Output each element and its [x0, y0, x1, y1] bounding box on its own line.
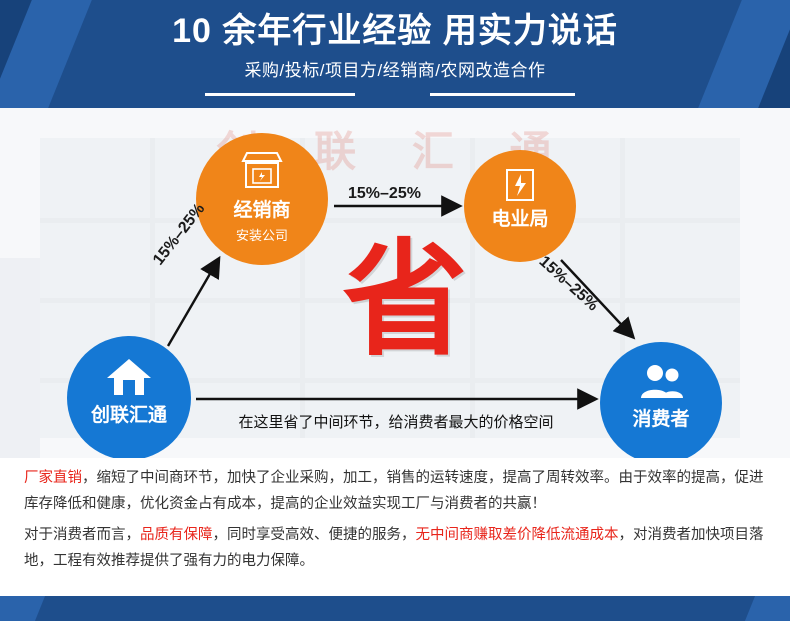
footer-diagonal-left [0, 596, 45, 621]
header-banner: 10 余年行业经验 用实力说话 采购/投标/项目方/经销商/农网改造合作 [0, 0, 790, 108]
paragraph-1-text: ，缩短了中间商环节，加快了企业采购，加工，销售的运转速度，提高了周转效率。由于效… [24, 470, 764, 512]
node-consumer[interactable]: 消费者 [600, 342, 722, 458]
footer-diagonal-right [745, 596, 790, 621]
paragraph-2: 对于消费者而言，品质有保障，同时享受高效、便捷的服务，无中间商赚取差价降低流通成… [24, 522, 768, 574]
flow-diagram: 创 联 汇 通 [0, 108, 790, 458]
paragraph-1: 厂家直销，缩短了中间商环节，加快了企业采购，加工，销售的运转速度，提高了周转效率… [24, 465, 768, 517]
node-power-bureau-label: 电业局 [464, 204, 576, 231]
banner-underline-right [430, 93, 575, 96]
diagram-bottom-caption: 在这里省了中间环节，给消费者最大的价格空间 [196, 411, 596, 432]
node-dealer-label: 经销商 [196, 195, 328, 222]
node-power-bureau[interactable]: 电业局 [464, 150, 576, 262]
paragraph-2-text-a: 对于消费者而言， [24, 527, 140, 543]
factory-home-icon [67, 356, 191, 398]
shop-icon [196, 151, 328, 191]
center-saving-character: 省 [330, 238, 480, 363]
banner-title: 10 余年行业经验 用实力说话 [0, 9, 790, 53]
node-dealer-sublabel: 安装公司 [196, 225, 328, 244]
building-bolt-icon [464, 166, 576, 202]
banner-underline-left [205, 93, 355, 96]
banner-subtitle: 采购/投标/项目方/经销商/农网改造合作 [0, 58, 790, 84]
node-consumer-label: 消费者 [600, 404, 722, 431]
people-icon [600, 362, 722, 402]
paragraph-1-highlight: 厂家直销 [24, 470, 82, 486]
arrow-maker-to-dealer [168, 260, 218, 346]
paragraph-2-highlight-1: 品质有保障 [140, 527, 213, 543]
paragraph-2-highlight-2: 无中间商赚取差价降低流通成本 [416, 527, 619, 543]
node-manufacturer[interactable]: 创联汇通 [67, 336, 191, 458]
footer-bar [0, 596, 790, 621]
page-root: 10 余年行业经验 用实力说话 采购/投标/项目方/经销商/农网改造合作 创 联… [0, 0, 790, 621]
percent-label-top: 15%–25% [348, 185, 421, 203]
node-manufacturer-label: 创联汇通 [67, 400, 191, 427]
node-dealer[interactable]: 经销商 安装公司 [196, 133, 328, 265]
paragraph-2-text-b: ，同时享受高效、便捷的服务， [213, 527, 416, 543]
